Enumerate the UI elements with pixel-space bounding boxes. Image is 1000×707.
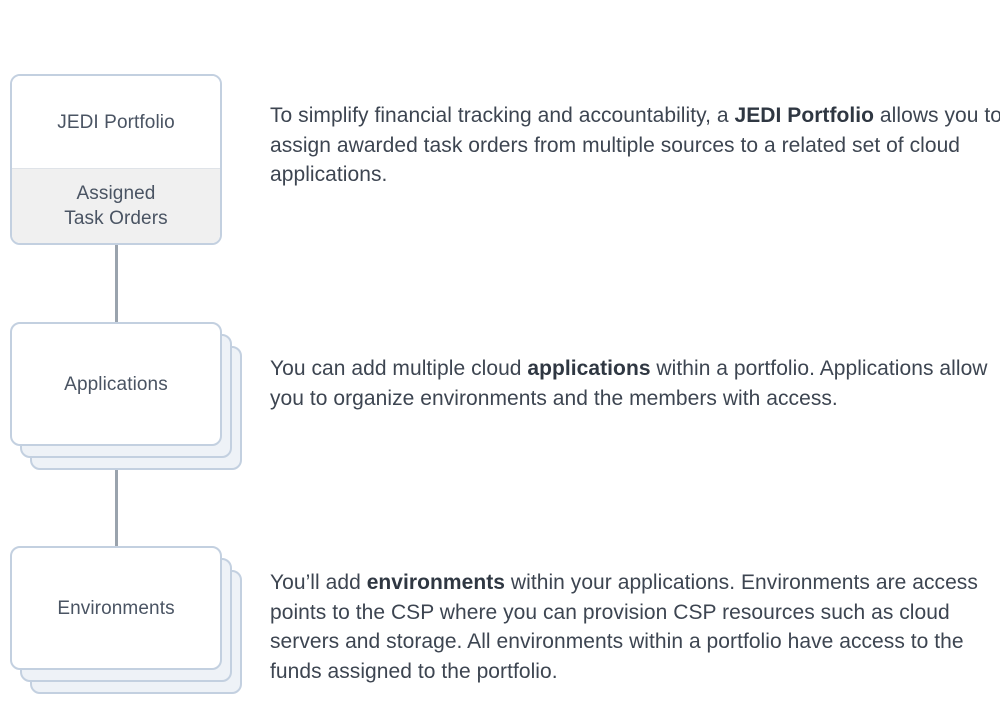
description-environments-part-1: You’ll add bbox=[270, 571, 367, 594]
card-applications: Applications bbox=[10, 322, 222, 446]
description-applications-part-1: You can add multiple cloud bbox=[270, 357, 527, 380]
hierarchy-diagram: JEDI Portfolio Assigned Task Orders Appl… bbox=[0, 0, 1000, 707]
card-section-assigned-task-orders: Assigned Task Orders bbox=[12, 168, 220, 243]
card-label-jedi-portfolio: JEDI Portfolio bbox=[57, 110, 175, 135]
description-applications-bold-term: applications bbox=[527, 357, 650, 380]
node-environments: Environments bbox=[10, 546, 242, 694]
connector-applications-to-environments bbox=[115, 468, 118, 552]
description-portfolio-part-1: To simplify financial tracking and accou… bbox=[270, 104, 735, 127]
card-label-environments: Environments bbox=[57, 596, 174, 621]
connector-portfolio-to-applications bbox=[115, 244, 118, 328]
node-applications: Applications bbox=[10, 322, 242, 470]
description-jedi-portfolio: To simplify financial tracking and accou… bbox=[270, 101, 1000, 190]
description-portfolio-bold-term: JEDI Portfolio bbox=[735, 104, 875, 127]
card-stack-environments: Environments bbox=[10, 546, 242, 694]
task-orders-line-2: Task Orders bbox=[64, 208, 168, 229]
description-environments-bold-term: environments bbox=[367, 571, 505, 594]
task-orders-line-1: Assigned bbox=[77, 183, 156, 204]
card-jedi-portfolio: JEDI Portfolio Assigned Task Orders bbox=[10, 74, 222, 245]
card-section-portfolio-title: JEDI Portfolio bbox=[12, 76, 220, 168]
description-environments: You’ll add environments within your appl… bbox=[270, 568, 1000, 686]
card-label-assigned-task-orders: Assigned Task Orders bbox=[64, 181, 168, 231]
node-jedi-portfolio: JEDI Portfolio Assigned Task Orders bbox=[10, 74, 222, 245]
card-stack-applications: Applications bbox=[10, 322, 242, 470]
description-applications: You can add multiple cloud applications … bbox=[270, 354, 1000, 413]
card-label-applications: Applications bbox=[64, 372, 168, 397]
card-environments: Environments bbox=[10, 546, 222, 670]
